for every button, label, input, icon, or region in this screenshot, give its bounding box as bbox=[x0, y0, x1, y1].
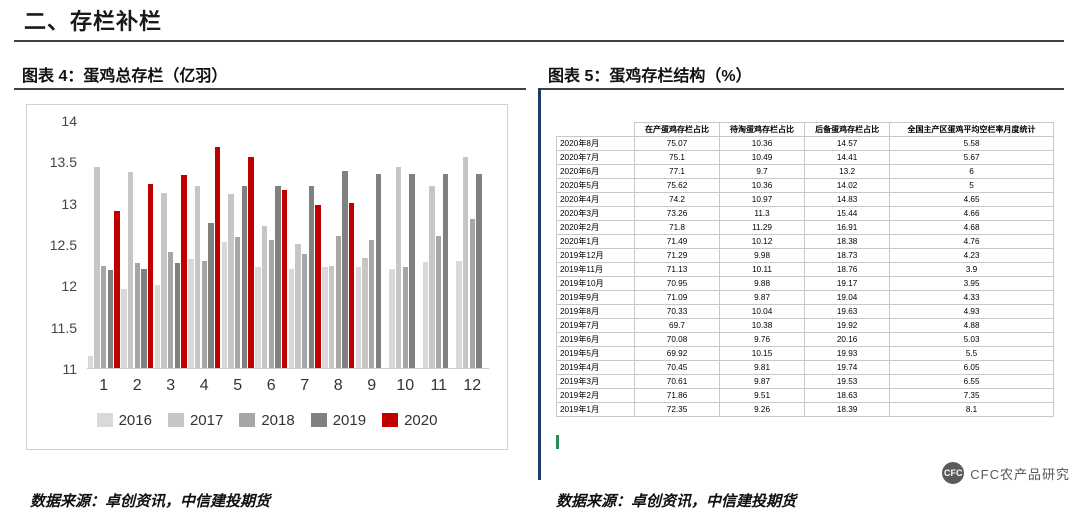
table-cell: 19.74 bbox=[805, 361, 890, 375]
table-cell: 9.81 bbox=[720, 361, 805, 375]
table-cell: 9.7 bbox=[720, 165, 805, 179]
table-cell: 6.05 bbox=[890, 361, 1054, 375]
table-cell: 71.29 bbox=[635, 249, 720, 263]
x-tick-label: 8 bbox=[334, 377, 343, 395]
table-row-label: 2019年12月 bbox=[557, 249, 635, 263]
table-cell: 14.41 bbox=[805, 151, 890, 165]
data-table-container: 在产蛋鸡存栏占比待淘蛋鸡存栏占比后备蛋鸡存栏占比全国主产区蛋鸡平均空栏率月度统计… bbox=[556, 122, 1054, 450]
table-cell: 71.09 bbox=[635, 291, 720, 305]
table-cell: 14.57 bbox=[805, 137, 890, 151]
table-cell: 10.36 bbox=[720, 179, 805, 193]
bar bbox=[403, 267, 408, 368]
table-row: 2019年12月71.299.9818.734.23 bbox=[557, 249, 1054, 263]
table-column-header: 待淘蛋鸡存栏占比 bbox=[720, 123, 805, 137]
table-row-label: 2019年6月 bbox=[557, 333, 635, 347]
x-tick-label: 1 bbox=[99, 377, 108, 395]
table-row-label: 2019年3月 bbox=[557, 375, 635, 389]
table-row-label: 2020年6月 bbox=[557, 165, 635, 179]
legend-swatch bbox=[97, 413, 113, 427]
table-cell: 7.35 bbox=[890, 389, 1054, 403]
bar-group bbox=[222, 120, 254, 368]
chart-heading: 图表 4：蛋鸡总存栏（亿羽） bbox=[22, 62, 227, 86]
table-cell: 19.04 bbox=[805, 291, 890, 305]
table-source: 数据来源：卓创资讯，中信建投期货 bbox=[556, 490, 796, 511]
table-column-header: 后备蛋鸡存栏占比 bbox=[805, 123, 890, 137]
table-cell: 5.58 bbox=[890, 137, 1054, 151]
legend-item: 2020 bbox=[382, 412, 437, 429]
table-cell: 19.53 bbox=[805, 375, 890, 389]
table-cell: 6.55 bbox=[890, 375, 1054, 389]
bar bbox=[389, 269, 394, 368]
y-tick-label: 11 bbox=[62, 361, 77, 377]
bar bbox=[262, 226, 267, 368]
table-row-label: 2020年7月 bbox=[557, 151, 635, 165]
bar bbox=[155, 285, 160, 368]
table-cell: 18.38 bbox=[805, 235, 890, 249]
table-cell: 9.51 bbox=[720, 389, 805, 403]
bar bbox=[208, 223, 213, 368]
table-heading-rule bbox=[540, 88, 1064, 90]
bar bbox=[322, 267, 327, 368]
legend-swatch bbox=[382, 413, 398, 427]
table-cell: 4.66 bbox=[890, 207, 1054, 221]
legend-swatch bbox=[168, 413, 184, 427]
bar bbox=[161, 193, 166, 368]
x-axis-labels: 123456789101112 bbox=[87, 377, 489, 403]
legend-swatch bbox=[311, 413, 327, 427]
table-cell: 9.87 bbox=[720, 291, 805, 305]
bar bbox=[148, 184, 153, 368]
table-column-header bbox=[557, 123, 635, 137]
bar bbox=[329, 266, 334, 368]
table-cell: 4.93 bbox=[890, 305, 1054, 319]
chart-source: 数据来源：卓创资讯，中信建投期货 bbox=[30, 490, 270, 511]
y-tick-label: 11.5 bbox=[51, 320, 77, 336]
bar bbox=[302, 254, 307, 368]
table-cell: 19.63 bbox=[805, 305, 890, 319]
table-cell: 71.8 bbox=[635, 221, 720, 235]
plot-area bbox=[87, 121, 489, 369]
table-row-label: 2019年4月 bbox=[557, 361, 635, 375]
bar bbox=[215, 147, 220, 368]
bar-group bbox=[121, 120, 153, 368]
bar bbox=[295, 244, 300, 368]
table-row-label: 2020年1月 bbox=[557, 235, 635, 249]
x-tick-label: 9 bbox=[367, 377, 376, 395]
bar-group bbox=[88, 120, 120, 368]
x-tick-label: 5 bbox=[233, 377, 242, 395]
x-tick-label: 10 bbox=[396, 377, 414, 395]
bar-group bbox=[255, 120, 287, 368]
table-cell: 5.67 bbox=[890, 151, 1054, 165]
table-cell: 70.95 bbox=[635, 277, 720, 291]
bar bbox=[235, 237, 240, 368]
bar-group bbox=[322, 120, 354, 368]
table-row: 2019年8月70.3310.0419.634.93 bbox=[557, 305, 1054, 319]
table-column-header: 在产蛋鸡存栏占比 bbox=[635, 123, 720, 137]
table-cell: 3.9 bbox=[890, 263, 1054, 277]
bar bbox=[409, 174, 414, 368]
table-cell: 18.39 bbox=[805, 403, 890, 417]
table-row: 2020年3月73.2611.315.444.66 bbox=[557, 207, 1054, 221]
table-cell: 18.63 bbox=[805, 389, 890, 403]
bar bbox=[101, 266, 106, 368]
table-cell: 10.04 bbox=[720, 305, 805, 319]
legend-label: 2017 bbox=[190, 412, 223, 429]
bar bbox=[141, 269, 146, 368]
bar bbox=[121, 289, 126, 368]
table-cell: 9.26 bbox=[720, 403, 805, 417]
bar bbox=[429, 186, 434, 368]
table-cell: 4.23 bbox=[890, 249, 1054, 263]
table-cell: 9.98 bbox=[720, 249, 805, 263]
table-cell: 18.73 bbox=[805, 249, 890, 263]
y-tick-label: 13.5 bbox=[50, 154, 77, 170]
table-row-label: 2020年4月 bbox=[557, 193, 635, 207]
bar bbox=[443, 174, 448, 368]
watermark-badge: CFC bbox=[942, 462, 964, 484]
table-cell: 71.49 bbox=[635, 235, 720, 249]
table-row: 2020年1月71.4910.1218.384.76 bbox=[557, 235, 1054, 249]
table-row: 2020年8月75.0710.3614.575.58 bbox=[557, 137, 1054, 151]
table-cell: 5.5 bbox=[890, 347, 1054, 361]
table-cell: 69.92 bbox=[635, 347, 720, 361]
bar bbox=[362, 258, 367, 368]
table-cell: 10.12 bbox=[720, 235, 805, 249]
table-cell: 70.33 bbox=[635, 305, 720, 319]
table-cell: 9.87 bbox=[720, 375, 805, 389]
bar-group bbox=[188, 120, 220, 368]
table-cell: 19.92 bbox=[805, 319, 890, 333]
bar bbox=[456, 261, 461, 368]
bar bbox=[255, 267, 260, 368]
bar-group bbox=[423, 120, 455, 368]
table-row: 2019年2月71.869.5118.637.35 bbox=[557, 389, 1054, 403]
bar bbox=[175, 263, 180, 368]
legend-label: 2020 bbox=[404, 412, 437, 429]
table-row: 2019年11月71.1310.1118.763.9 bbox=[557, 263, 1054, 277]
table-cell: 4.33 bbox=[890, 291, 1054, 305]
table-cell: 14.02 bbox=[805, 179, 890, 193]
table-cell: 70.61 bbox=[635, 375, 720, 389]
legend-item: 2017 bbox=[168, 412, 223, 429]
x-tick-label: 4 bbox=[200, 377, 209, 395]
y-axis-labels: 1111.51212.51313.514 bbox=[27, 121, 83, 383]
bar bbox=[282, 190, 287, 368]
table-row: 2020年7月75.110.4914.415.67 bbox=[557, 151, 1054, 165]
bar bbox=[356, 267, 361, 368]
table-row-label: 2019年11月 bbox=[557, 263, 635, 277]
x-axis-line bbox=[87, 368, 489, 369]
bar bbox=[168, 252, 173, 368]
table-cell: 10.49 bbox=[720, 151, 805, 165]
table-row: 2019年1月72.359.2618.398.1 bbox=[557, 403, 1054, 417]
bar bbox=[128, 172, 133, 368]
bar bbox=[248, 157, 253, 368]
table-row: 2019年4月70.459.8119.746.05 bbox=[557, 361, 1054, 375]
bar bbox=[423, 262, 428, 368]
table-row: 2019年3月70.619.8719.536.55 bbox=[557, 375, 1054, 389]
bar bbox=[188, 259, 193, 368]
watermark: CFC CFC农产品研究 bbox=[942, 462, 1070, 484]
watermark-text: CFC农产品研究 bbox=[970, 464, 1070, 483]
bar bbox=[94, 167, 99, 368]
table-cell: 16.91 bbox=[805, 221, 890, 235]
y-tick-label: 12 bbox=[61, 278, 77, 294]
table-cell: 71.13 bbox=[635, 263, 720, 277]
y-tick-label: 13 bbox=[61, 196, 77, 212]
page-title: 二、存栏补栏 bbox=[24, 4, 162, 36]
table-row: 2019年5月69.9210.1519.935.5 bbox=[557, 347, 1054, 361]
panel-divider bbox=[538, 88, 541, 480]
x-tick-label: 11 bbox=[430, 377, 447, 395]
bar bbox=[336, 236, 341, 368]
row-marker bbox=[556, 435, 559, 449]
bar-group bbox=[456, 120, 488, 368]
bar bbox=[228, 194, 233, 368]
table-row-label: 2019年5月 bbox=[557, 347, 635, 361]
legend-label: 2016 bbox=[119, 412, 152, 429]
bar bbox=[342, 171, 347, 368]
legend-item: 2019 bbox=[311, 412, 366, 429]
legend-swatch bbox=[239, 413, 255, 427]
bar bbox=[476, 174, 481, 368]
table-cell: 20.16 bbox=[805, 333, 890, 347]
table-row-label: 2019年7月 bbox=[557, 319, 635, 333]
legend-item: 2018 bbox=[239, 412, 294, 429]
x-tick-label: 3 bbox=[166, 377, 175, 395]
table-cell: 10.38 bbox=[720, 319, 805, 333]
table-cell: 10.36 bbox=[720, 137, 805, 151]
table-cell: 15.44 bbox=[805, 207, 890, 221]
bar bbox=[88, 356, 93, 368]
bar bbox=[369, 240, 374, 368]
table-row-label: 2019年1月 bbox=[557, 403, 635, 417]
table-cell: 9.88 bbox=[720, 277, 805, 291]
table-cell: 10.15 bbox=[720, 347, 805, 361]
table-cell: 4.68 bbox=[890, 221, 1054, 235]
table-row: 2020年4月74.210.9714.834.65 bbox=[557, 193, 1054, 207]
table-row-label: 2019年10月 bbox=[557, 277, 635, 291]
y-tick-label: 12.5 bbox=[50, 237, 77, 253]
bar bbox=[242, 186, 247, 368]
table-row-label: 2019年9月 bbox=[557, 291, 635, 305]
bar bbox=[315, 205, 320, 368]
table-row-label: 2019年8月 bbox=[557, 305, 635, 319]
table-row: 2020年2月71.811.2916.914.68 bbox=[557, 221, 1054, 235]
table-cell: 19.17 bbox=[805, 277, 890, 291]
bar bbox=[202, 261, 207, 368]
table-cell: 14.83 bbox=[805, 193, 890, 207]
y-tick-label: 14 bbox=[61, 113, 77, 129]
table-row-label: 2019年2月 bbox=[557, 389, 635, 403]
bar bbox=[108, 270, 113, 368]
table-cell: 10.11 bbox=[720, 263, 805, 277]
table-cell: 3.95 bbox=[890, 277, 1054, 291]
table-cell: 75.1 bbox=[635, 151, 720, 165]
table-row: 2019年10月70.959.8819.173.95 bbox=[557, 277, 1054, 291]
bar bbox=[114, 211, 119, 368]
title-divider bbox=[14, 40, 1064, 42]
table-row: 2020年6月77.19.713.26 bbox=[557, 165, 1054, 179]
chart-heading-rule bbox=[14, 88, 526, 90]
legend-label: 2019 bbox=[333, 412, 366, 429]
table-cell: 70.45 bbox=[635, 361, 720, 375]
table-row: 2019年9月71.099.8719.044.33 bbox=[557, 291, 1054, 305]
bar bbox=[222, 242, 227, 368]
table-cell: 70.08 bbox=[635, 333, 720, 347]
table-cell: 75.07 bbox=[635, 137, 720, 151]
table-cell: 69.7 bbox=[635, 319, 720, 333]
legend-item: 2016 bbox=[97, 412, 152, 429]
table-cell: 72.35 bbox=[635, 403, 720, 417]
bar bbox=[181, 175, 186, 368]
legend-label: 2018 bbox=[261, 412, 294, 429]
table-cell: 19.93 bbox=[805, 347, 890, 361]
table-cell: 77.1 bbox=[635, 165, 720, 179]
table-row-label: 2020年3月 bbox=[557, 207, 635, 221]
bar bbox=[275, 186, 280, 368]
bar bbox=[269, 240, 274, 368]
table-cell: 5 bbox=[890, 179, 1054, 193]
table-cell: 11.29 bbox=[720, 221, 805, 235]
table-row-label: 2020年8月 bbox=[557, 137, 635, 151]
table-cell: 13.2 bbox=[805, 165, 890, 179]
bar bbox=[470, 219, 475, 368]
bar-group bbox=[289, 120, 321, 368]
table-cell: 6 bbox=[890, 165, 1054, 179]
table-heading: 图表 5：蛋鸡存栏结构（%） bbox=[548, 62, 752, 86]
x-tick-label: 6 bbox=[267, 377, 276, 395]
table-row-label: 2020年5月 bbox=[557, 179, 635, 193]
table-row: 2020年5月75.6210.3614.025 bbox=[557, 179, 1054, 193]
table-cell: 74.2 bbox=[635, 193, 720, 207]
bar-group bbox=[356, 120, 388, 368]
table-row: 2019年6月70.089.7620.165.03 bbox=[557, 333, 1054, 347]
bar-group bbox=[155, 120, 187, 368]
bar bbox=[135, 263, 140, 368]
table-body: 2020年8月75.0710.3614.575.582020年7月75.110.… bbox=[557, 137, 1054, 417]
bar-group bbox=[389, 120, 421, 368]
table-cell: 9.76 bbox=[720, 333, 805, 347]
bar bbox=[376, 174, 381, 368]
table-cell: 75.62 bbox=[635, 179, 720, 193]
bar bbox=[195, 186, 200, 368]
x-tick-label: 12 bbox=[463, 377, 481, 395]
table-header-row: 在产蛋鸡存栏占比待淘蛋鸡存栏占比后备蛋鸡存栏占比全国主产区蛋鸡平均空栏率月度统计 bbox=[557, 123, 1054, 137]
table-column-header: 全国主产区蛋鸡平均空栏率月度统计 bbox=[890, 123, 1054, 137]
table-cell: 10.97 bbox=[720, 193, 805, 207]
chart-legend: 20162017201820192020 bbox=[47, 405, 487, 435]
table-cell: 5.03 bbox=[890, 333, 1054, 347]
bar bbox=[309, 186, 314, 368]
bar bbox=[349, 203, 354, 368]
bar bbox=[463, 157, 468, 368]
bar bbox=[289, 269, 294, 368]
data-table: 在产蛋鸡存栏占比待淘蛋鸡存栏占比后备蛋鸡存栏占比全国主产区蛋鸡平均空栏率月度统计… bbox=[556, 122, 1054, 417]
x-tick-label: 7 bbox=[300, 377, 309, 395]
table-cell: 71.86 bbox=[635, 389, 720, 403]
table-cell: 4.88 bbox=[890, 319, 1054, 333]
table-row: 2019年7月69.710.3819.924.88 bbox=[557, 319, 1054, 333]
table-row-label: 2020年2月 bbox=[557, 221, 635, 235]
bar-chart: 1111.51212.51313.514 123456789101112 201… bbox=[26, 104, 508, 450]
bar bbox=[436, 236, 441, 368]
table-cell: 18.76 bbox=[805, 263, 890, 277]
table-cell: 11.3 bbox=[720, 207, 805, 221]
bar bbox=[396, 167, 401, 368]
table-cell: 4.76 bbox=[890, 235, 1054, 249]
table-cell: 73.26 bbox=[635, 207, 720, 221]
table-cell: 4.65 bbox=[890, 193, 1054, 207]
table-cell: 8.1 bbox=[890, 403, 1054, 417]
x-tick-label: 2 bbox=[133, 377, 142, 395]
